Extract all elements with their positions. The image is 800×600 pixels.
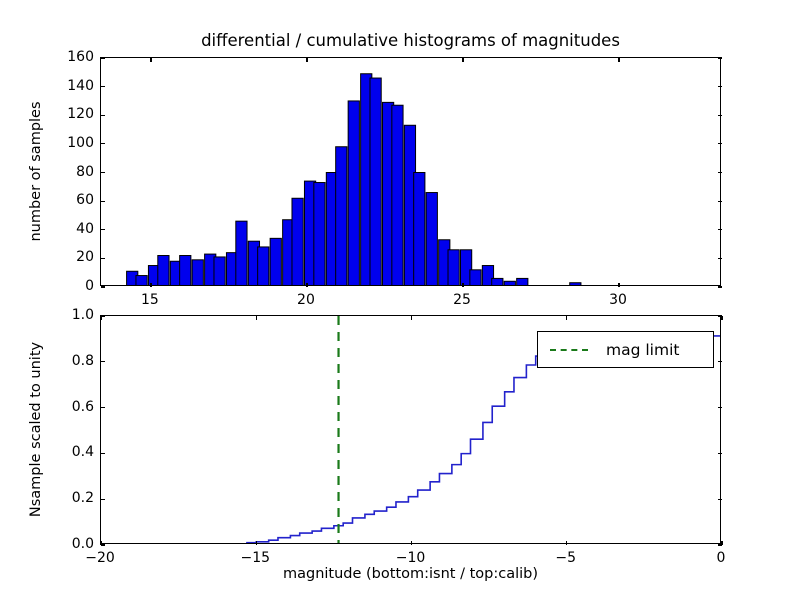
y-tick-mark xyxy=(718,544,722,545)
histogram-bar xyxy=(158,256,169,285)
histogram-bar xyxy=(136,276,147,285)
y-tick-label: 0.8 xyxy=(0,353,94,369)
bottom-panel-ylabel: Nsample scaled to unity xyxy=(28,315,44,544)
y-tick-label: 20 xyxy=(0,249,94,265)
x-tick-label: −20 xyxy=(85,550,115,566)
y-tick-label: 120 xyxy=(0,106,94,122)
y-tick-mark xyxy=(101,544,105,545)
histogram-bars-svg xyxy=(101,58,720,285)
histogram-bar xyxy=(180,256,191,285)
differential-histogram-plot xyxy=(100,57,721,286)
legend[interactable]: mag limit xyxy=(537,331,714,368)
y-tick-label: 80 xyxy=(0,164,94,180)
legend-label-mag-limit: mag limit xyxy=(606,341,679,359)
histogram-bar xyxy=(192,260,203,285)
y-tick-mark xyxy=(718,286,722,287)
histogram-bar xyxy=(504,281,515,285)
y-tick-label: 100 xyxy=(0,135,94,151)
x-tick-label: −10 xyxy=(396,550,426,566)
histogram-bar xyxy=(570,283,581,285)
x-tick-label: 0 xyxy=(717,550,726,566)
y-tick-label: 40 xyxy=(0,221,94,237)
histogram-bar xyxy=(448,250,459,285)
figure-title: differential / cumulative histograms of … xyxy=(100,31,721,50)
histogram-bar xyxy=(292,198,303,285)
x-tick-label: 20 xyxy=(297,292,315,308)
y-tick-label: 0.2 xyxy=(0,490,94,506)
histogram-bar xyxy=(314,183,325,285)
histogram-bar xyxy=(470,270,481,285)
x-tick-mark xyxy=(721,316,722,320)
y-tick-mark xyxy=(101,286,105,287)
histogram-bar xyxy=(336,147,347,285)
histogram-bar xyxy=(370,78,381,285)
y-tick-label: 0.6 xyxy=(0,399,94,415)
y-tick-label: 1.0 xyxy=(0,307,94,323)
y-tick-label: 0.0 xyxy=(0,536,94,552)
x-tick-mark xyxy=(721,541,722,545)
y-tick-label: 160 xyxy=(0,49,94,65)
histogram-bar xyxy=(392,105,403,285)
histogram-bar xyxy=(270,238,281,285)
x-tick-label: 25 xyxy=(453,292,471,308)
histogram-bar xyxy=(214,257,225,285)
histogram-bar xyxy=(236,221,247,285)
y-tick-label: 140 xyxy=(0,78,94,94)
figure-canvas: differential / cumulative histograms of … xyxy=(0,0,800,600)
x-tick-label: 15 xyxy=(141,292,159,308)
histogram-bar xyxy=(426,193,437,285)
histogram-bar xyxy=(348,101,359,285)
legend-dashed-line-icon xyxy=(550,349,588,351)
x-tick-label: −15 xyxy=(240,550,270,566)
y-tick-label: 0 xyxy=(0,278,94,294)
histogram-bar xyxy=(517,278,528,285)
bottom-panel-xlabel: magnitude (bottom:isnt / top:calib) xyxy=(100,566,721,582)
y-tick-label: 60 xyxy=(0,192,94,208)
histogram-bar xyxy=(258,247,269,285)
x-tick-label: −5 xyxy=(555,550,576,566)
y-tick-label: 0.4 xyxy=(0,444,94,460)
histogram-bar xyxy=(492,278,503,285)
x-tick-label: 30 xyxy=(609,292,627,308)
histogram-bar xyxy=(414,173,425,286)
